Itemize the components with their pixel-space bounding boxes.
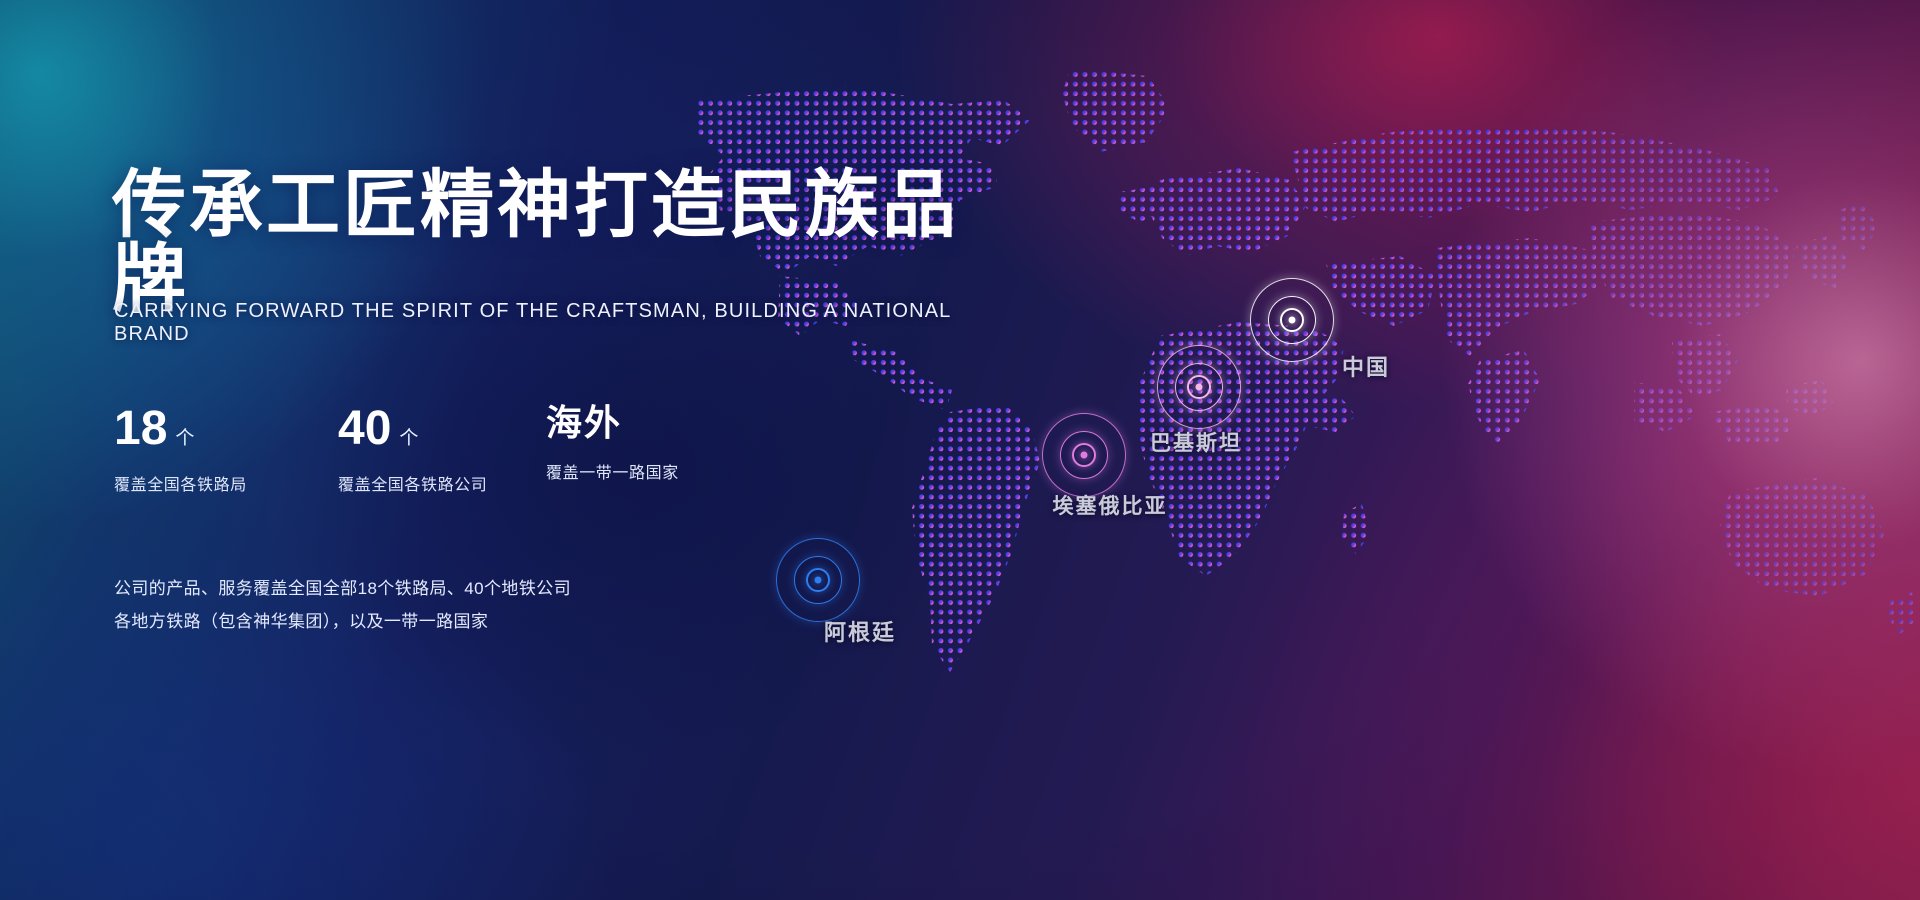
hero-banner: 中国巴基斯坦埃塞俄比亚阿根廷 传承工匠精神打造民族品牌 CARRYING FOR… bbox=[0, 0, 1920, 900]
marker-center-dot bbox=[1081, 452, 1088, 459]
stat-unit: 个 bbox=[399, 423, 418, 450]
page-title: 传承工匠精神打造民族品牌 bbox=[112, 168, 1012, 316]
map-marker-label: 埃塞俄比亚 bbox=[1053, 490, 1168, 520]
description-line-1: 公司的产品、服务覆盖全国全部18个铁路局、40个地铁公司 bbox=[114, 572, 571, 605]
map-marker-label: 中国 bbox=[1342, 350, 1390, 382]
stat-value: 18 bbox=[114, 405, 167, 453]
marker-center-dot bbox=[1196, 384, 1203, 391]
content-block: 传承工匠精神打造民族品牌 CARRYING FORWARD THE SPIRIT… bbox=[112, 0, 1012, 900]
stat-value: 海外 bbox=[546, 405, 622, 441]
stat-caption: 覆盖一带一路国家 bbox=[546, 459, 679, 483]
stats-row: 18 个 覆盖全国各铁路局 40 个 覆盖全国各铁路公司 海外 覆盖一带一路国家 bbox=[114, 405, 874, 525]
stat-item: 40 个 覆盖全国各铁路公司 bbox=[338, 405, 487, 495]
description-paragraph: 公司的产品、服务覆盖全国全部18个铁路局、40个地铁公司 各地方铁路（包含神华集… bbox=[114, 572, 571, 638]
marker-center-dot bbox=[1289, 317, 1296, 324]
stat-caption: 覆盖全国各铁路局 bbox=[114, 471, 247, 495]
page-subtitle: CARRYING FORWARD THE SPIRIT OF THE CRAFT… bbox=[114, 300, 1012, 346]
stat-item: 18 个 覆盖全国各铁路局 bbox=[114, 405, 247, 495]
description-line-2: 各地方铁路（包含神华集团），以及一带一路国家 bbox=[114, 605, 571, 638]
stat-value: 40 bbox=[338, 405, 391, 453]
stat-caption: 覆盖全国各铁路公司 bbox=[338, 471, 487, 495]
stat-unit: 个 bbox=[175, 423, 194, 450]
map-marker-label: 巴基斯坦 bbox=[1150, 427, 1242, 457]
stat-item: 海外 覆盖一带一路国家 bbox=[546, 405, 679, 483]
